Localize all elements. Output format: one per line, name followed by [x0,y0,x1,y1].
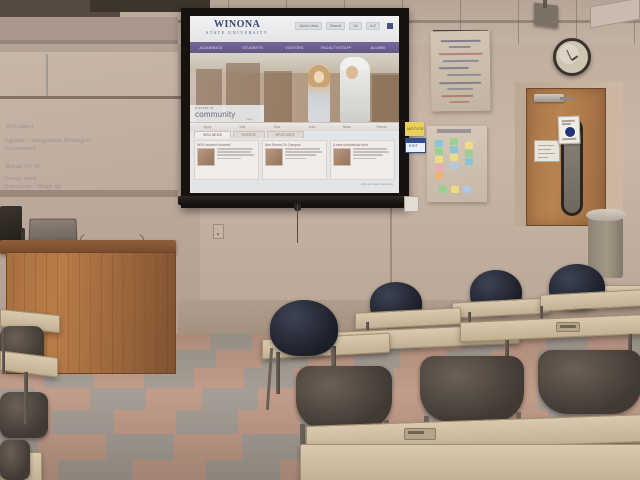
yellow-sign-text: NOTICE [407,126,424,131]
outlet-screw [217,233,219,235]
door-closer-arm [560,97,574,100]
whiteboard-note: Assessment [4,146,36,152]
logo-wordmark: WINONA [206,19,268,30]
desk-cable-grommet [556,322,580,332]
hero-person-right-face [346,66,358,79]
hero-person-left-face [314,71,324,83]
wood-grain [68,253,69,373]
wall-outlet-plate [213,224,224,239]
student-chair [0,440,30,480]
clock-minute-hand [566,50,572,60]
subnav-item-jobs[interactable]: Jobs [294,125,329,129]
wood-grain [112,253,113,373]
nav-item-faculty-staff[interactable]: FACULTY/STAFF [315,46,357,50]
wood-grain [167,253,168,373]
news-card-thumbnail [333,148,351,166]
news-card[interactable]: A new scholarship fund [330,140,395,180]
content-tabs[interactable]: WSU NEWS EVENTS SPOTLIGHT [194,131,304,138]
whiteboard-note: Break 10:30 [6,164,40,170]
screen-pull-cord[interactable] [297,205,298,243]
news-card[interactable]: Arts Series On Campus [262,140,327,180]
wood-grain [123,253,124,373]
news-card-thumbnail [265,148,283,166]
hero-caption: a sense of community more [190,105,264,122]
subnav-item-apply[interactable]: Apply [190,125,225,129]
whiteboard: Welcome! Agenda - Integration Strategies… [0,52,178,195]
blue-sign: EXIT [405,138,426,153]
subnav-item-events[interactable]: Events [364,125,399,129]
site-header: WINONA STATE UNIVERSITY Quick Links Sear… [190,16,399,42]
utility-links[interactable]: Quick Links Search Go A-Z [295,22,393,30]
hero-more-link[interactable]: more [246,117,253,121]
sticky-poster-title [437,129,471,133]
wood-grain [134,253,135,373]
wood-grain [90,253,91,373]
util-link-search[interactable]: Search [326,22,345,30]
whiteboard-rail [0,96,182,99]
trash-can-liner [586,209,626,221]
news-card-excerpt [353,148,392,166]
site-footer-note: Winona State University [361,182,393,186]
wood-grain [101,253,102,373]
nav-item-students[interactable]: STUDENTS [232,46,274,50]
news-card[interactable]: WSU student honored [194,140,259,180]
logo-subtitle: STATE UNIVERSITY [206,30,268,36]
wall-clock [553,38,591,76]
door-sign [558,116,581,145]
student-chair [296,366,392,430]
news-card-title: WSU student honored [197,143,256,147]
hero-building [264,71,292,122]
tab-events[interactable]: EVENTS [233,131,265,138]
news-card-title: Arts Series On Campus [265,143,324,147]
util-link-go[interactable]: Go [349,22,362,30]
subnav-item-visit[interactable]: Visit [225,125,260,129]
tab-wsu-news[interactable]: WSU NEWS [194,131,231,138]
nav-item-academics[interactable]: ACADEMICS [190,46,232,50]
news-card-excerpt [285,148,324,166]
sticky-note-poster [427,126,487,202]
news-card-list: WSU student honored Arts Se [194,140,395,180]
blue-sign-text: EXIT [409,143,418,148]
projection-screen: WINONA STATE UNIVERSITY Quick Links Sear… [181,8,409,208]
menu-square-icon[interactable] [387,23,393,29]
primary-nav[interactable]: ACADEMICS STUDENTS VISITORS FACULTY/STAF… [190,42,399,53]
classroom-scene: Welcome! Agenda - Integration Strategies… [0,0,640,480]
wood-grain [57,253,58,373]
subnav-item-give[interactable]: Give [260,125,295,129]
projected-webpage: WINONA STATE UNIVERSITY Quick Links Sear… [190,16,399,193]
whiteboard-note: Agenda - Integration Strategies [4,138,92,144]
student-chair [538,350,640,414]
door-sign-logo-icon [564,126,576,138]
clock-hour-hand [571,55,578,60]
util-link-quick[interactable]: Quick Links [295,22,322,30]
news-card-thumbnail [197,148,215,166]
projection-surface: WINONA STATE UNIVERSITY Quick Links Sear… [190,16,399,193]
wood-grain [145,253,146,373]
nav-item-alumni[interactable]: ALUMNI [357,46,399,50]
wood-grain [156,253,157,373]
whiteboard-marker-tray [0,190,178,197]
clock-face [559,44,579,64]
small-wall-notice [404,196,419,212]
door-paper-notice [534,140,560,162]
util-link-az[interactable]: A-Z [366,22,380,30]
flip-chart-poster [431,31,491,112]
tab-spotlight[interactable]: SPOTLIGHT [267,131,304,138]
speaker-mount [543,0,547,8]
hero-banner: a sense of community more [190,53,399,122]
yellow-sign: NOTICE [405,122,424,136]
news-card-title: A new scholarship fund [333,143,392,147]
student-chair [270,300,338,356]
wood-grain [79,253,80,373]
subnav-item-news[interactable]: News [329,125,364,129]
student-desk [300,444,640,480]
whiteboard-note: Group work [4,176,37,182]
news-card-excerpt [217,148,256,166]
nav-item-visitors[interactable]: VISITORS [274,46,316,50]
site-logo: WINONA STATE UNIVERSITY [206,19,268,36]
whiteboard-note: Welcome! [6,124,34,130]
desk-cable-grommet [404,428,436,440]
secondary-nav[interactable]: Apply Visit Give Jobs News Events [190,122,399,131]
student-chair [420,356,524,422]
hero-building [372,75,399,122]
